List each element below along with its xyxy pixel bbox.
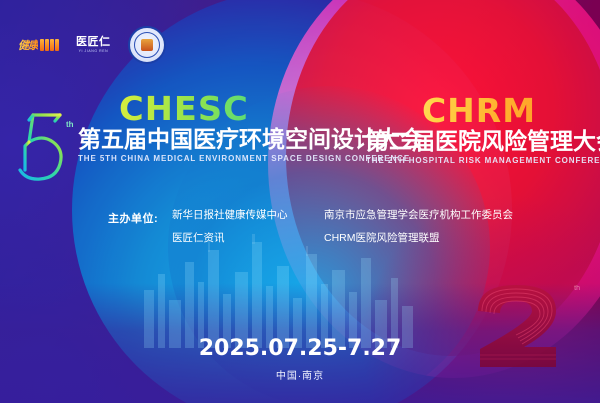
seal-emblem-icon — [141, 39, 153, 51]
conference-titles: th CHESC 第五届中国医疗环境空间设计大会 THE 5TH CHINA M… — [0, 92, 600, 184]
yi-jiang-ren-logo: 医匠仁 YI JIANG REN — [76, 37, 111, 54]
yi-jiang-ren-logo-cn: 医匠仁 — [76, 37, 111, 48]
organizer-name: CHRM医院风险管理联盟 — [324, 233, 534, 244]
right-conference-title-block: CHRM 第二届医院风险管理大会 THE 2TH HOSPITAL RISK M… — [366, 94, 592, 165]
conference-poster: 健康 医匠仁 YI JIANG REN — [0, 0, 600, 403]
organizer-row: 主办单位: 新华日报社健康传媒中心 南京市应急管理学会医疗机构工作委员会 — [108, 210, 534, 226]
xinhua-daily-health-logo: 健康 — [18, 37, 59, 54]
seal-inner-ring — [134, 32, 160, 58]
event-location: 中国·南京 — [0, 367, 600, 382]
event-date: 2025.07.25-7.27 — [0, 338, 600, 360]
organizer-row: 医匠仁资讯 CHRM医院风险管理联盟 — [108, 233, 534, 244]
edition-5-suffix: th — [66, 120, 74, 129]
chrm-acronym: CHRM — [366, 94, 592, 127]
organizer-name: 南京市应急管理学会医疗机构工作委员会 — [324, 210, 534, 221]
xinhua-logo-blocks — [40, 39, 59, 51]
decorative-2-suffix: th — [574, 285, 580, 292]
event-date-block: 2025.07.25-7.27 中国·南京 — [0, 338, 600, 382]
organizers-section: 主办单位: 新华日报社健康传媒中心 南京市应急管理学会医疗机构工作委员会 医匠仁… — [108, 210, 534, 251]
organizer-name: 医匠仁资讯 — [172, 233, 324, 244]
organizer-name: 新华日报社健康传媒中心 — [172, 210, 324, 221]
sponsor-logo-bar: 健康 医匠仁 YI JIANG REN — [18, 26, 166, 64]
organizers-label: 主办单位: — [108, 210, 172, 226]
association-seal-logo — [128, 26, 166, 64]
right-title-en: THE 2TH HOSPITAL RISK MANAGEMENT CONFERE… — [366, 156, 592, 165]
right-title-cn: 第二届医院风险管理大会 — [366, 129, 592, 153]
edition-5-numeral-icon — [12, 106, 74, 186]
yi-jiang-ren-logo-en: YI JIANG REN — [78, 50, 108, 53]
left-conference-title-block: th CHESC 第五届中国医疗环境空间设计大会 THE 5TH CHINA M… — [12, 92, 423, 186]
edition-5-numeral: th — [12, 106, 74, 186]
xinhua-logo-text: 健康 — [18, 37, 38, 53]
